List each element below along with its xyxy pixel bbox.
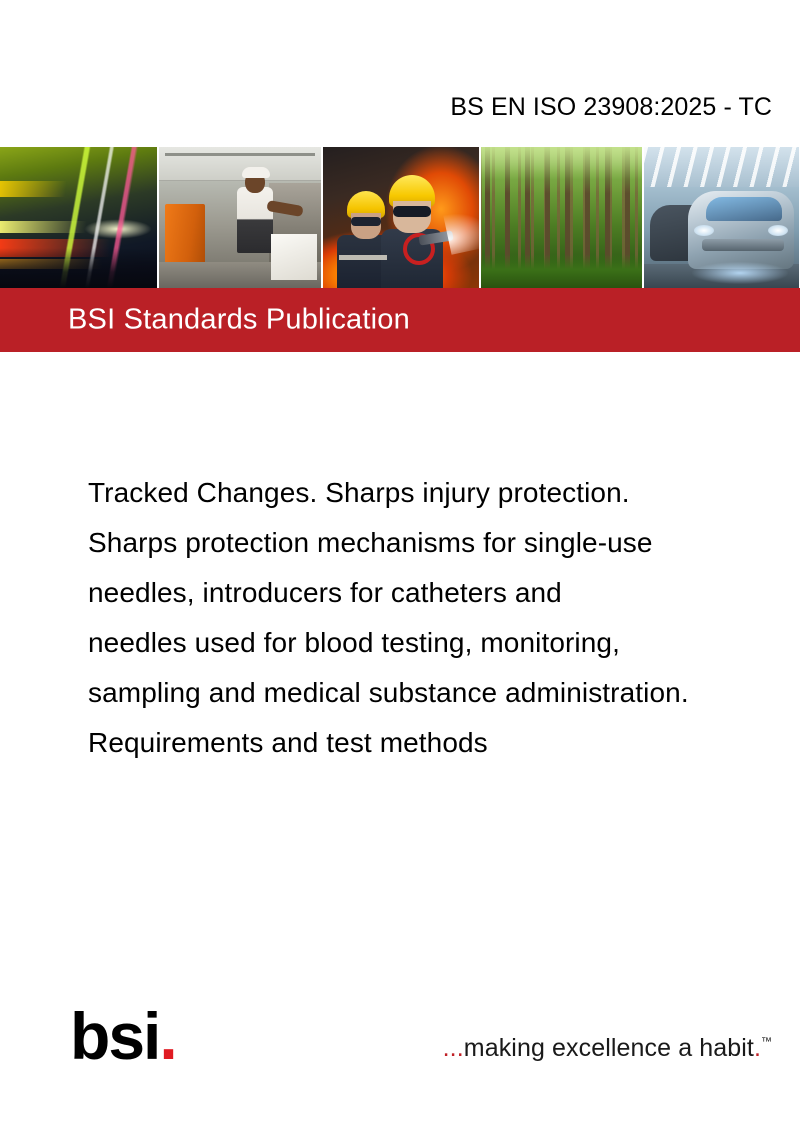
- factory-roof-lighting: [644, 147, 799, 187]
- cover-image-firefighters: [323, 147, 479, 288]
- publication-banner-title: BSI Standards Publication: [68, 304, 410, 337]
- title-line: needles used for blood testing, monitori…: [88, 618, 800, 668]
- car-headlight-left: [694, 225, 714, 236]
- warehouse-worker-body: [237, 187, 273, 253]
- publication-banner: BSI Standards Publication: [0, 288, 800, 352]
- cover-page: BS EN ISO 23908:2025 - TC: [0, 0, 800, 1132]
- warehouse-white-box: [271, 234, 317, 280]
- cover-image-forest: [481, 147, 642, 288]
- firefighter-rear-mask: [351, 217, 381, 226]
- cover-image-warehouse-worker: [159, 147, 321, 288]
- car-floor-glow: [692, 262, 788, 284]
- standard-number: BS EN ISO 23908:2025 - TC: [0, 93, 772, 122]
- title-line: Requirements and test methods: [88, 718, 800, 768]
- cover-image-strip: [0, 147, 800, 288]
- firefighter-reflective-stripe: [339, 255, 387, 260]
- bsi-logo-wordmark: bsi: [70, 999, 159, 1073]
- tagline-leading-ellipsis: ...: [443, 1034, 464, 1062]
- bsi-logo-red-dot: .: [159, 999, 175, 1073]
- water-spray: [443, 207, 479, 254]
- publication-title: Tracked Changes. Sharps injury protectio…: [88, 468, 800, 768]
- firefighter-front-mask: [393, 206, 431, 217]
- warehouse-beam: [165, 153, 315, 156]
- title-line: Sharps protection mechanisms for single-…: [88, 518, 800, 568]
- bsi-tagline: ...making excellence a habit.™: [443, 1034, 772, 1063]
- cover-image-traffic-light-trails: [0, 147, 157, 288]
- tagline-text: making excellence a habit: [464, 1034, 754, 1062]
- car-windshield: [706, 197, 782, 221]
- title-line: needles, introducers for catheters and: [88, 568, 800, 618]
- title-line: Tracked Changes. Sharps injury protectio…: [88, 468, 800, 518]
- forest-undergrowth: [481, 254, 642, 288]
- title-line: sampling and medical substance administr…: [88, 668, 800, 718]
- car-grille: [702, 239, 784, 251]
- bsi-logo: bsi.: [70, 1000, 200, 1072]
- trademark-icon: ™: [761, 1036, 772, 1048]
- car-headlight-right: [768, 225, 788, 236]
- warehouse-worker-cap: [242, 167, 270, 178]
- cover-image-car-assembly-line: [644, 147, 799, 288]
- forest-canopy: [481, 147, 642, 193]
- tagline-end-period: .: [754, 1034, 761, 1062]
